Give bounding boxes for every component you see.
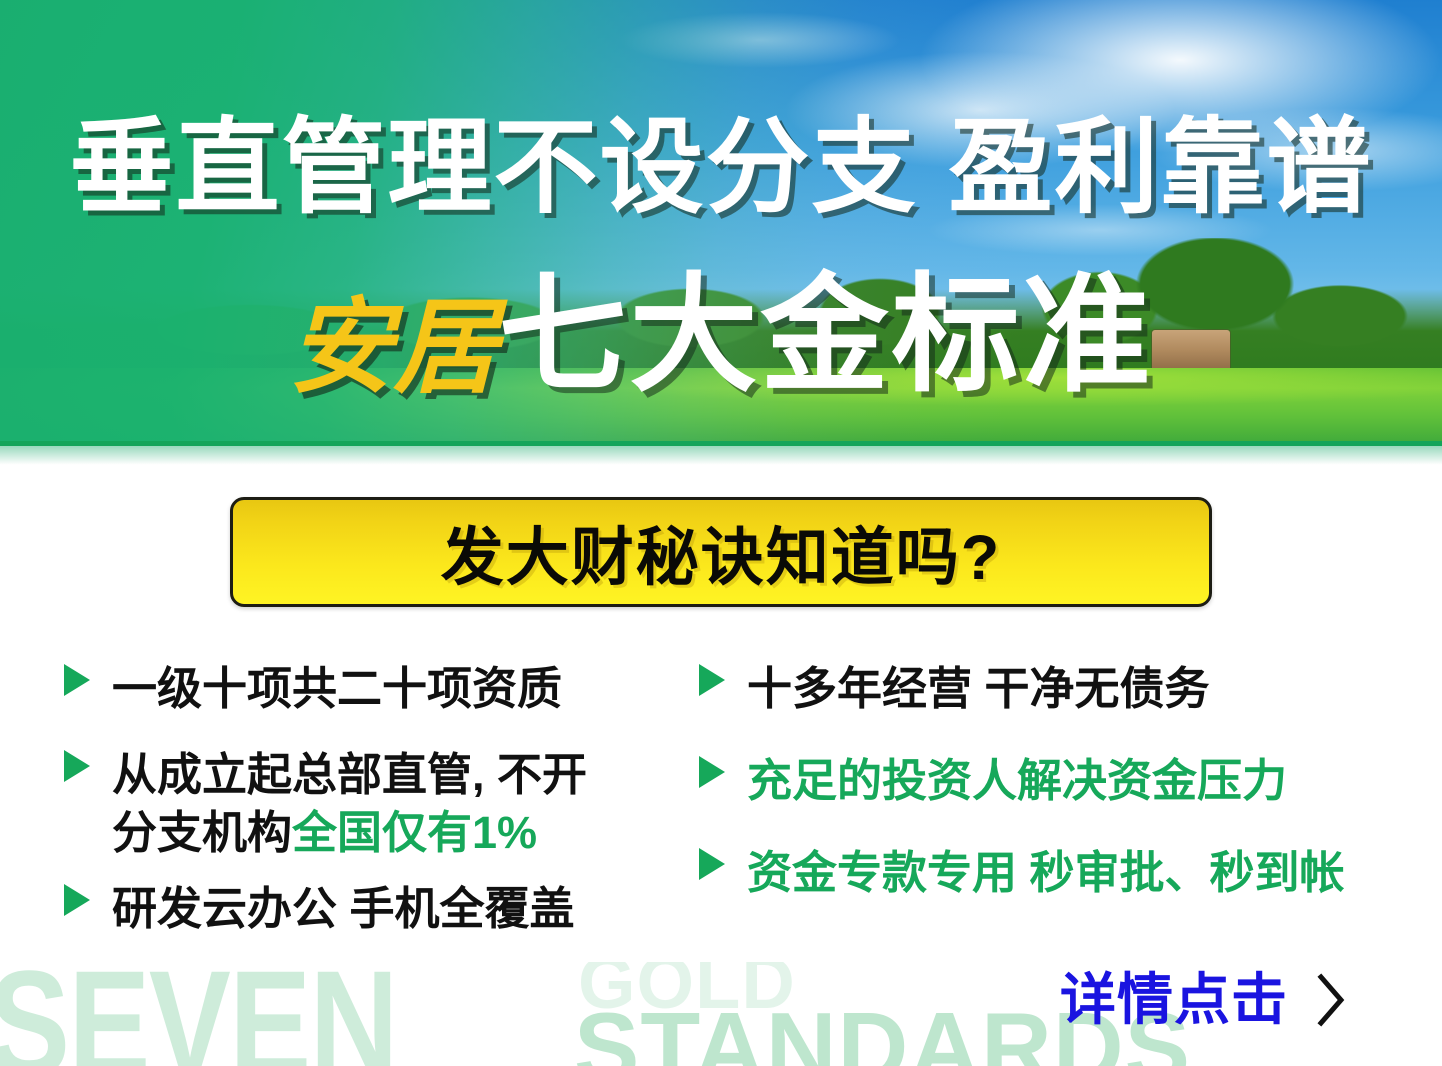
hero-section: 垂直管理不设分支 盈利靠谱 安居七大金标准 <box>0 0 1442 466</box>
details-cta-button[interactable]: 详情点击 <box>1060 968 1348 1032</box>
feature-segment: 分支机构 <box>112 807 292 858</box>
hero-bottom-fade <box>0 446 1442 468</box>
play-triangle-icon <box>697 752 731 792</box>
feature-item: 一级十项共二十项资质 <box>62 660 692 718</box>
hero-headline-line1: 垂直管理不设分支 盈利靠谱 <box>0 112 1442 224</box>
hero-brand-word: 安居 <box>288 290 498 406</box>
feature-item: 资金专款专用 秒审批、秒到帐 <box>697 844 1397 902</box>
play-triangle-icon <box>697 660 731 700</box>
feature-text: 充足的投资人解决资金压力 <box>747 752 1287 810</box>
feature-item: 研发云办公 手机全覆盖 <box>62 880 692 938</box>
feature-text: 从成立起总部直管, 不开 分支机构全国仅有1% <box>112 746 587 862</box>
feature-item: 从成立起总部直管, 不开 分支机构全国仅有1% <box>62 746 692 862</box>
feature-text: 十多年经营 干净无债务 <box>747 660 1210 718</box>
feature-segment: 一级十项共二十项资质 <box>112 663 562 714</box>
play-triangle-icon <box>62 746 96 786</box>
feature-segment: 十多年经营 干净无债务 <box>747 663 1210 714</box>
play-triangle-icon <box>62 660 96 700</box>
features-column-left: 一级十项共二十项资质 从成立起总部直管, 不开 分支机构全国仅有1% 研发云办公… <box>62 660 692 964</box>
feature-segment: 研发云办公 手机全覆盖 <box>112 883 575 934</box>
features-column-right: 十多年经营 干净无债务 充足的投资人解决资金压力 资金专款专用 秒审批、秒到帐 <box>697 660 1397 936</box>
feature-text: 研发云办公 手机全覆盖 <box>112 880 575 938</box>
feature-segment: 资金专款专用 秒审批、秒到帐 <box>747 847 1345 898</box>
feature-segment-highlight: 全国仅有1% <box>292 807 537 858</box>
cta-label: 详情点击 <box>1060 968 1288 1032</box>
feature-segment: 从成立起总部直管, 不开 <box>112 749 587 800</box>
hero-headline-line2: 安居七大金标准 <box>0 272 1442 439</box>
features-section: 一级十项共二十项资质 从成立起总部直管, 不开 分支机构全国仅有1% 研发云办公… <box>0 660 1442 990</box>
chevron-right-icon <box>1314 971 1348 1029</box>
callout-banner[interactable]: 发大财秘诀知道吗? <box>230 497 1212 607</box>
promo-banner: 垂直管理不设分支 盈利靠谱 安居七大金标准 发大财秘诀知道吗? 一级十项共二十项… <box>0 0 1442 1066</box>
feature-text: 资金专款专用 秒审批、秒到帐 <box>747 844 1345 902</box>
play-triangle-icon <box>62 880 96 920</box>
feature-item: 充足的投资人解决资金压力 <box>697 752 1397 810</box>
feature-text: 一级十项共二十项资质 <box>112 660 562 718</box>
feature-segment: 充足的投资人解决资金压力 <box>747 755 1287 806</box>
play-triangle-icon <box>697 844 731 884</box>
feature-item: 十多年经营 干净无债务 <box>697 660 1397 718</box>
callout-text: 发大财秘诀知道吗? <box>441 507 1001 598</box>
hero-standard-word: 七大金标准 <box>499 264 1154 407</box>
